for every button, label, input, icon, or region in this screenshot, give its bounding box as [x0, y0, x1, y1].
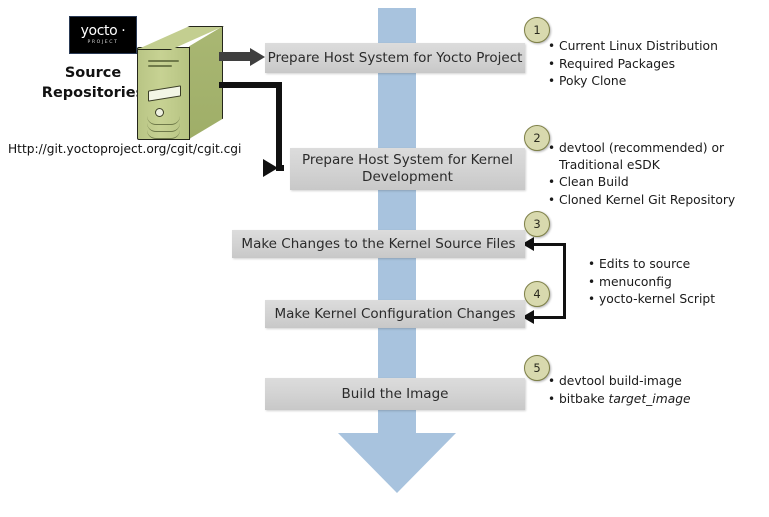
shared-bullet-2: menuconfig: [599, 274, 765, 291]
step-2-badge: 2: [524, 125, 550, 151]
step-4-box[interactable]: Make Kernel Configuration Changes: [265, 300, 525, 328]
step-4-number: 4: [533, 287, 540, 301]
server-side-panel: [189, 26, 223, 139]
step-4-label: Make Kernel Configuration Changes: [274, 306, 515, 323]
step-1-bullet-3: Poky Clone: [559, 73, 760, 90]
step-1-label: Prepare Host System for Yocto Project: [268, 50, 523, 67]
step-1-bullet-1: Current Linux Distribution: [559, 38, 760, 55]
server-tower-icon: [137, 27, 223, 140]
logo-wordmark: yocto ·: [81, 25, 126, 38]
step-5-number: 5: [533, 361, 540, 375]
server-drive-slot: [148, 85, 181, 101]
logo-subtext: PROJECT: [87, 39, 118, 46]
source-title-line2: Repositories: [36, 83, 150, 103]
step-5-bullets: devtool build-image bitbake target_image: [545, 373, 760, 408]
steps-3-4-shared-bullets: Edits to source menuconfig yocto-kernel …: [585, 256, 765, 309]
step-2-bullet-2: Clean Build: [559, 174, 763, 191]
connector-server-to-step2-h1: [219, 82, 282, 88]
shared-bullet-3: yocto-kernel Script: [599, 291, 765, 308]
feedback-bracket-to-step4: [534, 316, 565, 319]
step-5-badge: 5: [524, 355, 550, 381]
flow-end-arrow-icon: [338, 433, 456, 493]
step-2-label-line2: Development: [302, 169, 513, 186]
step-3-number: 3: [533, 217, 540, 231]
step-2-bullet-3: Cloned Kernel Git Repository: [559, 192, 763, 209]
connector-server-to-step2-v: [276, 82, 282, 170]
step-2-bullet-1: devtool (recommended) or Traditional eSD…: [559, 140, 763, 173]
source-title-line1: Source: [36, 63, 150, 83]
step-1-bullets: Current Linux Distribution Required Pack…: [545, 38, 760, 91]
shared-bullet-1: Edits to source: [599, 256, 765, 273]
workflow-diagram: yocto · PROJECT Source Repositories Http…: [0, 0, 769, 517]
connector-server-to-step1: [219, 52, 252, 61]
step-5-bullet-2: bitbake target_image: [559, 391, 760, 408]
step-3-box[interactable]: Make Changes to the Kernel Source Files: [232, 230, 525, 258]
step-2-number: 2: [533, 131, 540, 145]
step-2-bullets: devtool (recommended) or Traditional eSD…: [545, 140, 763, 209]
server-front-panel: [137, 47, 190, 140]
step-5-bullet-2-prefix: bitbake: [559, 392, 609, 406]
step-1-number: 1: [533, 23, 540, 37]
step-3-label: Make Changes to the Kernel Source Files: [241, 236, 515, 253]
step-5-label: Build the Image: [342, 386, 449, 403]
step-5-box[interactable]: Build the Image: [265, 378, 525, 410]
source-repositories-title: Source Repositories: [36, 63, 150, 103]
step-1-badge: 1: [524, 17, 550, 43]
step-1-box[interactable]: Prepare Host System for Yocto Project: [265, 43, 525, 73]
step-4-badge: 4: [524, 281, 550, 307]
step-1-bullet-2: Required Packages: [559, 56, 760, 73]
step-2-box[interactable]: Prepare Host System for Kernel Developme…: [290, 148, 525, 190]
feedback-bracket-to-step3: [534, 243, 565, 246]
step-5-bullet-2-target: target_image: [609, 392, 691, 406]
yocto-project-logo: yocto · PROJECT: [69, 16, 137, 54]
step-5-bullet-1: devtool build-image: [559, 373, 760, 390]
connector-arrowhead-step1-icon: [250, 48, 265, 66]
server-vent-1: [148, 60, 179, 62]
server-vent-2: [148, 65, 172, 67]
server-arc-3: [147, 130, 180, 139]
step-3-badge: 3: [524, 211, 550, 237]
connector-arrowhead-step2-icon: [263, 159, 278, 177]
source-repository-url: Http://git.yoctoproject.org/cgit/cgit.cg…: [8, 142, 241, 156]
step-2-label-line1: Prepare Host System for Kernel: [302, 152, 513, 169]
feedback-bracket-vertical: [563, 243, 566, 319]
